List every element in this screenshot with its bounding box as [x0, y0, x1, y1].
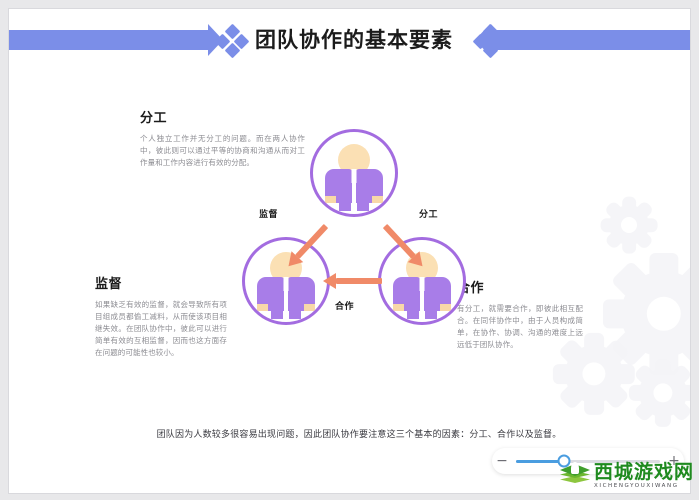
layered-leaf-icon [560, 462, 590, 490]
diagram-label-hezuo: 合作 [335, 299, 354, 312]
gear-decoration-icon [609, 205, 649, 245]
diagram-node-top [310, 129, 398, 217]
footer-summary-text: 团队因为人数较多很容易出现问题，因此团队协作要注意这三个基本的因素：分工、合作以… [134, 427, 584, 440]
slide-canvas: 团队协作的基本要素 分工 个人独立工作并无分工的问题。而在两人协作中，彼此则可以… [8, 8, 691, 494]
watermark-site-name: 西城游戏网 [594, 463, 694, 482]
diagram-node-left [242, 237, 330, 325]
watermark: 西城游戏网 XICHENGYOUXIWANG [560, 462, 694, 490]
person-icon [381, 240, 463, 322]
page-title: 团队协作的基本要素 [254, 25, 454, 55]
gear-decoration-icon [639, 369, 687, 417]
person-icon [245, 240, 327, 322]
block-body-jiandu: 如果缺乏有效的监督，就会导致所有项目组成员都偷工减料，从而使该项目相继失效。在团… [95, 299, 227, 359]
collaboration-diagram: 监督 分工 合作 [234, 129, 474, 329]
arrow-right-to-left-icon [336, 278, 382, 284]
diagram-label-fengong: 分工 [419, 207, 438, 220]
block-heading-fengong: 分工 [140, 107, 305, 126]
block-heading-hezuo: 合作 [457, 277, 583, 296]
block-body-hezuo: 有分工，就需要合作，即彼此相互配合。在同伴协作中，由于人员构成简单，在协作、协调… [457, 303, 583, 351]
text-block-jiandu: 监督 如果缺乏有效的监督，就会导致所有项目组成员都偷工减料，从而使该项目相继失效… [95, 273, 227, 359]
gear-decoration-icon [565, 345, 623, 403]
gear-decoration-icon [621, 271, 691, 357]
slide-header: 团队协作的基本要素 [9, 9, 690, 71]
diagram-label-jiandu: 监督 [259, 207, 278, 220]
block-heading-jiandu: 监督 [95, 273, 227, 292]
header-right-arrow-bar-icon [489, 30, 690, 50]
person-icon [313, 132, 395, 214]
watermark-text: 西城游戏网 XICHENGYOUXIWANG [594, 463, 694, 490]
watermark-pinyin: XICHENGYOUXIWANG [594, 484, 694, 490]
diagram-node-right [378, 237, 466, 325]
zoom-out-button[interactable]: − [492, 454, 512, 468]
text-block-hezuo: 合作 有分工，就需要合作，即彼此相互配合。在同伴协作中，由于人员构成简单，在协作… [457, 277, 583, 351]
header-left-arrow-bar-icon [9, 30, 209, 50]
header-left-diamond-cluster-icon [217, 26, 247, 56]
